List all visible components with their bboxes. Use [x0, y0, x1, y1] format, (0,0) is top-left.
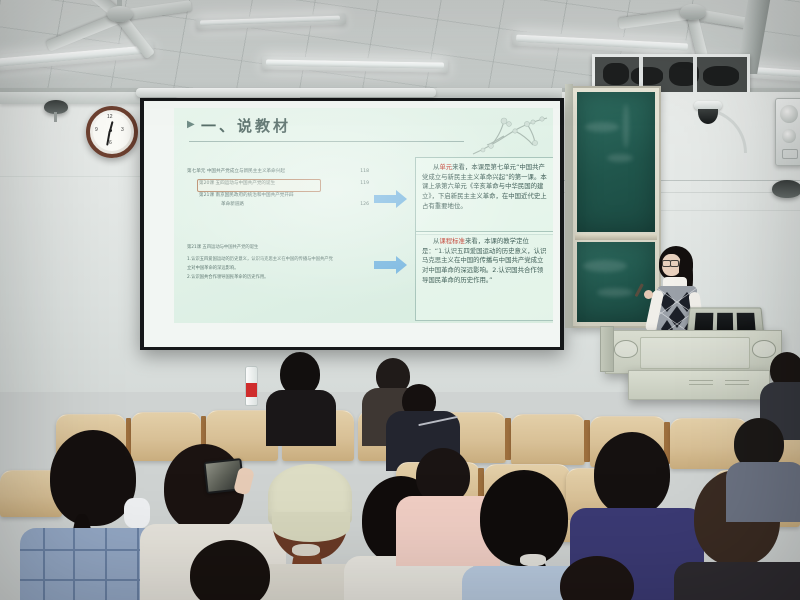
box1-keyword: 单元: [439, 163, 452, 171]
water-bottle: [245, 366, 258, 406]
lecture-podium: [605, 330, 782, 374]
tray-divider: [693, 57, 697, 97]
title-bullet-icon: ▶: [187, 119, 195, 130]
screen-roller: [136, 88, 436, 97]
standard-analysis-box: 从课程标准来看，本课的教学定位是：“1.认识五四爱国运动的历史意义，认识马克思主…: [415, 231, 553, 321]
standard-heading: 第21课 五四运动与中国共产党的诞生: [187, 243, 362, 252]
chalk-smudge: [583, 260, 627, 272]
cap-brim: [272, 512, 350, 542]
speaker-cone: [782, 129, 796, 143]
chalk-smudge: [585, 122, 619, 132]
podium-front-panel: [640, 337, 750, 369]
podium-vent: [725, 380, 749, 381]
hair-tie: [292, 544, 320, 556]
student-head: [480, 470, 568, 566]
podium-badge-left: [614, 340, 638, 358]
arrow-to-box-2: [374, 256, 408, 274]
arrow-head: [396, 190, 407, 208]
face-mask: [124, 498, 150, 528]
classroom-photo: 12 3 6 9: [0, 0, 800, 600]
presentation-slide: ▶ 一、说教材 第七单元 中国共产党成立与新民主主义革命兴起: [174, 108, 553, 323]
clock-tick-12: 12: [107, 114, 113, 120]
box2-keyword: 课程标准: [439, 237, 465, 245]
standard-line-1: 1.认识五四爱国运动的历史意义，认识马克思主义在中国的传播与中国共产党: [187, 255, 362, 264]
toc-next-row: 第21课 南京国民政府的统治和中国共产党开辟: [187, 192, 369, 201]
toc-highlight-page: 119: [360, 180, 369, 189]
clock-tick-3: 3: [121, 127, 124, 133]
chalkboard-panel-upper: [577, 92, 655, 232]
bottle-label: [246, 383, 257, 397]
toc-next-page: 126: [360, 201, 369, 210]
arrow-head: [396, 256, 407, 274]
wall-clock: 12 3 6 9: [86, 106, 138, 158]
fan-hub: [680, 4, 706, 20]
arrow-to-box-1: [374, 190, 408, 208]
toc-unit-page: 118: [360, 168, 369, 177]
wall-seam: [0, 176, 150, 177]
chalk-smudge: [623, 104, 629, 148]
toc-next-label: 第21课 南京国民政府的统治和中国共产党开辟: [199, 193, 294, 198]
curriculum-standard-block: 第21课 五四运动与中国共产党的诞生 1.认识五四爱国运动的历史意义，认识马克思…: [187, 243, 362, 282]
speaker-cone: [780, 105, 798, 123]
podium-vent: [689, 384, 713, 385]
speaker-grille: [782, 149, 798, 159]
toc-unit-label: 第七单元 中国共产党成立与新民主主义革命兴起: [187, 169, 285, 174]
chalk-rail: [575, 234, 657, 240]
slide-title: 一、说教材: [201, 115, 291, 136]
cable: [603, 63, 629, 85]
cable: [631, 67, 663, 85]
teacher-glasses-icon: [670, 260, 679, 267]
student-body: [726, 462, 800, 522]
plum-blossom-icon: [471, 112, 549, 160]
podium-base: [628, 370, 770, 400]
podium-side: [600, 326, 614, 372]
podium-vent: [689, 380, 713, 381]
toc-unit-row: 第七单元 中国共产党成立与新民主主义革命兴起 118: [187, 168, 369, 177]
chalkboard-track: [565, 84, 573, 328]
chalkboard-panel-lower: [577, 242, 655, 322]
student-body: [266, 390, 336, 446]
hair-tie: [520, 554, 546, 566]
cable: [703, 66, 739, 86]
standard-line-2: 立对中国革命的深远影响。: [187, 264, 362, 273]
seat: [511, 414, 585, 465]
toc-highlight-box: [197, 179, 321, 192]
podium-badge-right: [752, 340, 776, 358]
toc-next-label-2: 革命新道路: [221, 202, 244, 207]
title-divider: [189, 141, 464, 142]
podium-vent: [725, 384, 749, 385]
arrow-shaft: [374, 261, 397, 269]
clock-tick-6: 6: [109, 140, 112, 146]
lamp-stem: [54, 112, 57, 122]
toc-next-row-2: 革命新道路 126: [187, 201, 369, 210]
fan-hub: [107, 6, 133, 22]
clock-tick-9: 9: [95, 127, 98, 133]
chalk-smudge: [607, 154, 633, 162]
standard-line-3: 2.认识国共合作领导国民革命的历史作用。: [187, 273, 362, 282]
arrow-shaft: [374, 195, 397, 203]
wall-light-fixture: [772, 180, 800, 198]
clock-center-pin: [109, 129, 112, 132]
teacher-hand: [644, 290, 653, 299]
unit-analysis-box: 从单元来看，本课是第七单元“中国共产党成立与新民主主义革命兴起”的第一课。本课上…: [415, 157, 553, 235]
chalk-smudge: [597, 288, 633, 297]
student-head: [594, 432, 670, 516]
student-body: [674, 562, 800, 600]
wall-speaker: [775, 98, 800, 166]
